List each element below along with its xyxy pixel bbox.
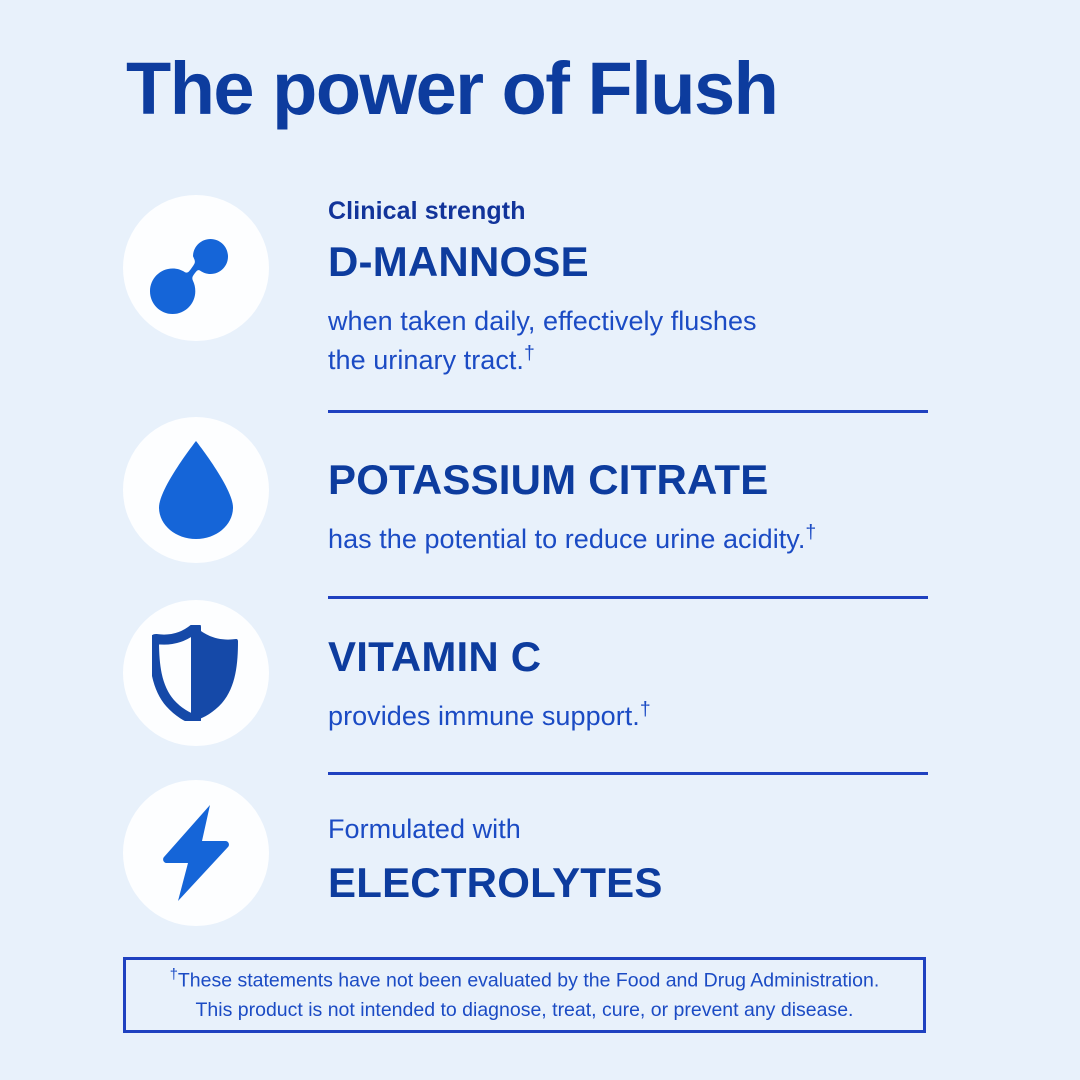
dagger-mark: †: [805, 521, 816, 543]
molecule-icon: [150, 222, 242, 314]
disclaimer-box: †These statements have not been evaluate…: [123, 957, 926, 1033]
icon-circle-electrolytes: [123, 780, 269, 926]
infographic-page: The power of Flush Clinical strength D-M…: [0, 0, 1080, 1080]
disclaimer-text-1: These statements have not been evaluated…: [178, 970, 879, 992]
ingredient-name: ELECTROLYTES: [328, 858, 980, 908]
ingredient-eyebrow: Clinical strength: [328, 196, 980, 227]
ingredient-description-line1: when taken daily, effectively flushes: [328, 306, 757, 336]
disclaimer-line-2: This product is not intended to diagnose…: [196, 996, 854, 1025]
ingredient-content-vitamin-c: VITAMIN C provides immune support.†: [328, 632, 980, 736]
disclaimer-line-1: †These statements have not been evaluate…: [170, 965, 880, 996]
icon-circle-d-mannose: [123, 195, 269, 341]
divider-2: [328, 596, 928, 599]
icon-circle-potassium-citrate: [123, 417, 269, 563]
ingredient-content-d-mannose: Clinical strength D-MANNOSE when taken d…: [328, 196, 980, 379]
ingredient-description: when taken daily, effectively flushes th…: [328, 302, 980, 380]
ingredient-description-line2: the urinary tract.: [328, 345, 524, 375]
shield-icon: [152, 625, 240, 721]
dagger-mark: †: [170, 967, 178, 983]
water-drop-icon: [159, 441, 233, 539]
ingredient-name: VITAMIN C: [328, 632, 980, 682]
divider-3: [328, 772, 928, 775]
ingredient-description: has the potential to reduce urine acidit…: [328, 519, 980, 558]
ingredient-eyebrow: Formulated with: [328, 810, 980, 848]
lightning-bolt-icon: [160, 805, 232, 901]
dagger-mark: †: [524, 342, 535, 364]
ingredient-name: D-MANNOSE: [328, 237, 980, 287]
icon-circle-vitamin-c: [123, 600, 269, 746]
divider-1: [328, 410, 928, 413]
ingredient-content-electrolytes: Formulated with ELECTROLYTES: [328, 810, 980, 909]
ingredient-content-potassium-citrate: POTASSIUM CITRATE has the potential to r…: [328, 455, 980, 559]
ingredient-name: POTASSIUM CITRATE: [328, 455, 980, 505]
ingredient-description: provides immune support.†: [328, 696, 980, 735]
ingredient-description-line1: provides immune support.: [328, 701, 640, 731]
page-title: The power of Flush: [126, 52, 777, 126]
ingredient-description-line1: has the potential to reduce urine acidit…: [328, 524, 805, 554]
dagger-mark: †: [640, 698, 651, 720]
